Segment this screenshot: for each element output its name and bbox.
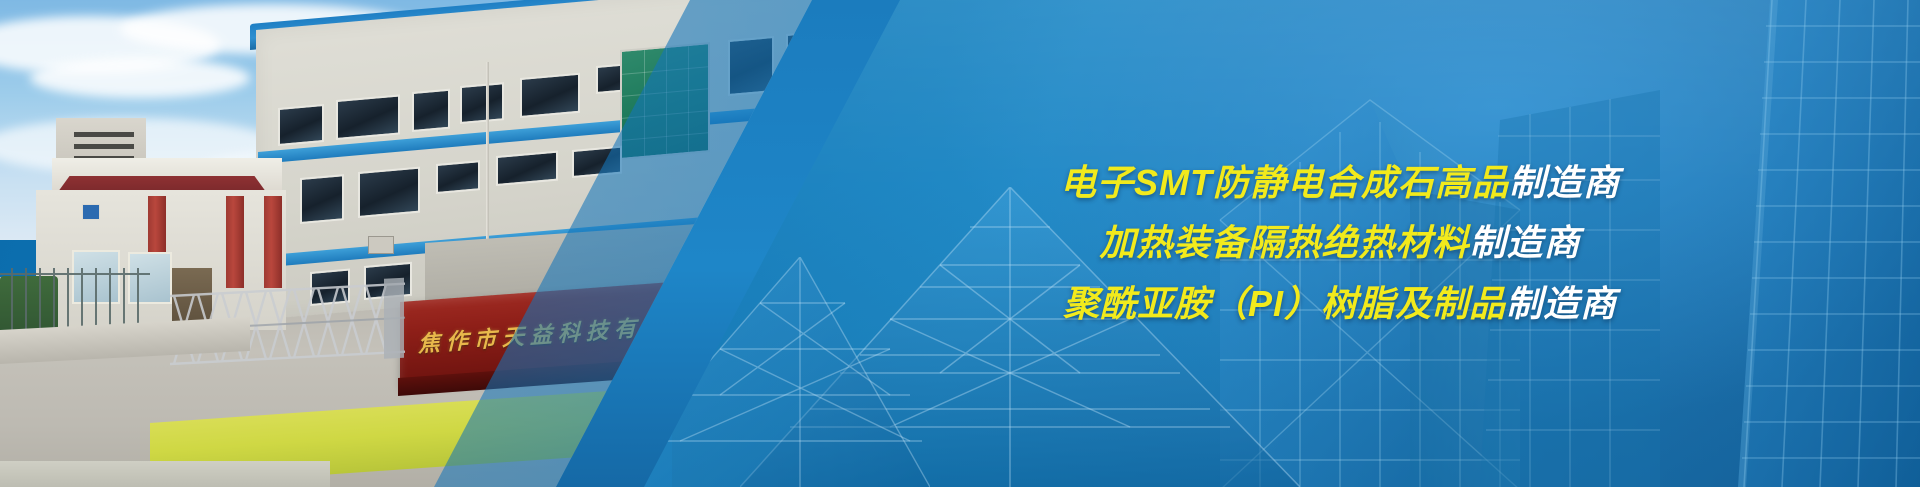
slogan-line-3-plain: 制造商 <box>1506 283 1617 324</box>
slogan-line-1: 电子SMT防静电合成石高品制造商 <box>1060 162 1620 204</box>
slogan-line-2-plain: 制造商 <box>1470 222 1581 263</box>
slogan-line-1-plain: 制造商 <box>1509 162 1620 203</box>
hero-banner: 焦作市天益科技有限公司 <box>0 0 1920 487</box>
slogan-line-3-highlight: 聚酰亚胺（PI）树脂及制品 <box>1063 283 1506 324</box>
slogan-line-3: 聚酰亚胺（PI）树脂及制品制造商 <box>1063 283 1617 325</box>
slogan-line-2-highlight: 加热装备隔热绝热材料 <box>1099 222 1469 263</box>
slogan-line-1-highlight: 电子SMT防静电合成石高品 <box>1060 162 1509 203</box>
slogan-line-2: 加热装备隔热绝热材料制造商 <box>1099 222 1580 264</box>
slogan-block: 电子SMT防静电合成石高品制造商 加热装备隔热绝热材料制造商 聚酰亚胺（PI）树… <box>0 0 1920 487</box>
